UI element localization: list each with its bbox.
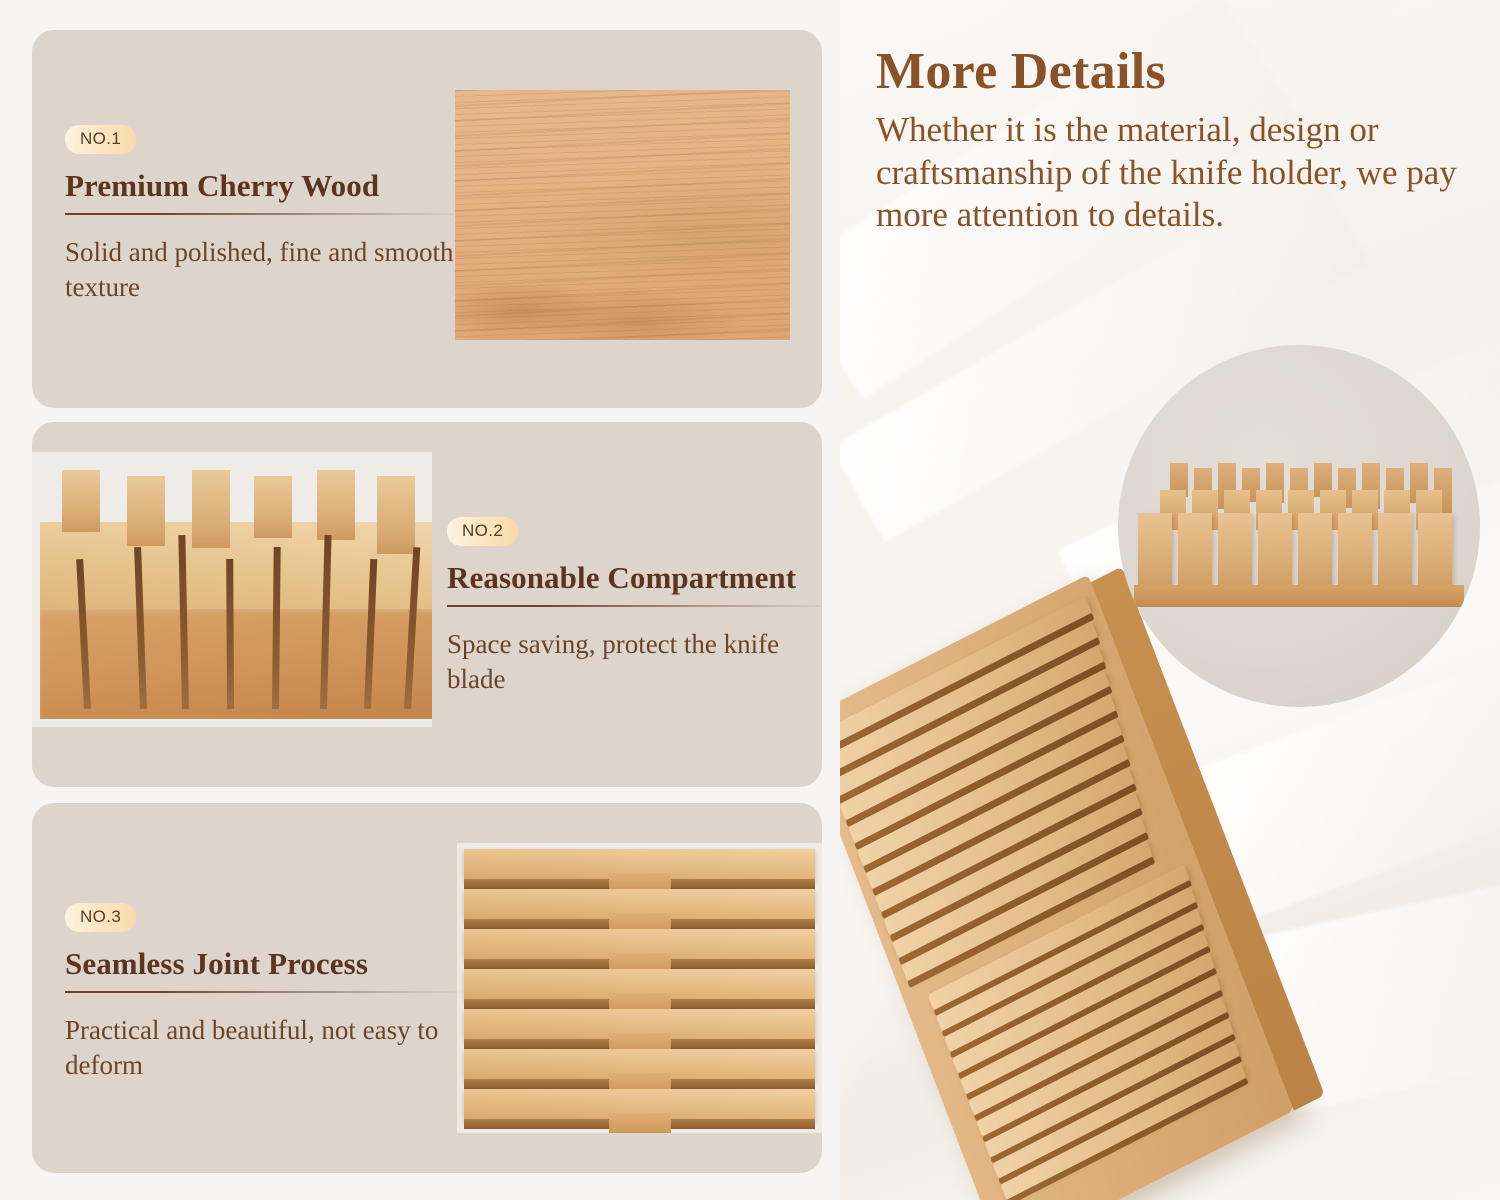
- feature-heading-3: Seamless Joint Process: [65, 946, 465, 982]
- wood-grain-texture: [455, 90, 790, 340]
- feature-heading-1: Premium Cherry Wood: [65, 168, 465, 204]
- holder-base-bar: [1134, 585, 1464, 607]
- infographic-canvas: NO.1 Premium Cherry Wood Solid and polis…: [0, 0, 1500, 1200]
- cherry-wood-grain-photo: [455, 90, 790, 340]
- knife-slot: [226, 559, 234, 709]
- feature-card-3-text: NO.3 Seamless Joint Process Practical an…: [65, 903, 465, 1084]
- headline-block: More Details Whether it is the material,…: [876, 42, 1476, 237]
- feature-heading-2: Reasonable Compartment: [447, 560, 822, 596]
- feature-card-premium-cherry-wood: NO.1 Premium Cherry Wood Solid and polis…: [32, 30, 822, 408]
- page-title: More Details: [876, 42, 1476, 101]
- interlocking-slats-illustration: [457, 843, 822, 1133]
- holder-front-block: [1338, 513, 1372, 595]
- knife-block-fin: [127, 476, 165, 546]
- knife-block-fin: [254, 476, 292, 538]
- holder-front-block: [1418, 513, 1452, 595]
- badge-no-2: NO.2: [447, 517, 518, 546]
- feature-card-1-text: NO.1 Premium Cherry Wood Solid and polis…: [65, 125, 465, 306]
- holder-front-block: [1298, 513, 1332, 595]
- feature-body-1: Solid and polished, fine and smooth text…: [65, 235, 465, 306]
- feature-body-3: Practical and beautiful, not easy to def…: [65, 1013, 465, 1084]
- page-subtitle: Whether it is the material, design or cr…: [876, 109, 1476, 237]
- knife-block-fin: [317, 470, 355, 540]
- feature-card-seamless-joint-process: NO.3 Seamless Joint Process Practical an…: [32, 803, 822, 1173]
- holder-front-block: [1218, 513, 1252, 595]
- knife-block-slot-illustration: [32, 452, 432, 727]
- knife-block-fin: [62, 470, 100, 532]
- badge-no-3: NO.3: [65, 903, 136, 932]
- knife-holder-side-view-closeup: [1118, 345, 1480, 707]
- badge-no-1: NO.1: [65, 125, 136, 154]
- feature-card-2-text: NO.2 Reasonable Compartment Space saving…: [447, 517, 822, 698]
- heading-divider-1: [65, 213, 465, 215]
- seamless-joint-slats-photo: [457, 843, 822, 1133]
- feature-card-reasonable-compartment: NO.2 Reasonable Compartment Space saving…: [32, 422, 822, 787]
- knife-block-slots-photo: [32, 452, 432, 727]
- feature-body-2: Space saving, protect the knife blade: [447, 627, 822, 698]
- holder-front-block: [1258, 513, 1292, 595]
- holder-front-block: [1138, 513, 1172, 595]
- holder-front-block: [1178, 513, 1212, 595]
- joint-tenon: [608, 1113, 670, 1133]
- heading-divider-2: [447, 605, 822, 607]
- knife-block-fin: [192, 470, 230, 548]
- right-panel: More Details Whether it is the material,…: [840, 0, 1500, 1200]
- heading-divider-3: [65, 991, 465, 993]
- holder-front-block: [1378, 513, 1412, 595]
- knife-block-fin: [377, 476, 415, 554]
